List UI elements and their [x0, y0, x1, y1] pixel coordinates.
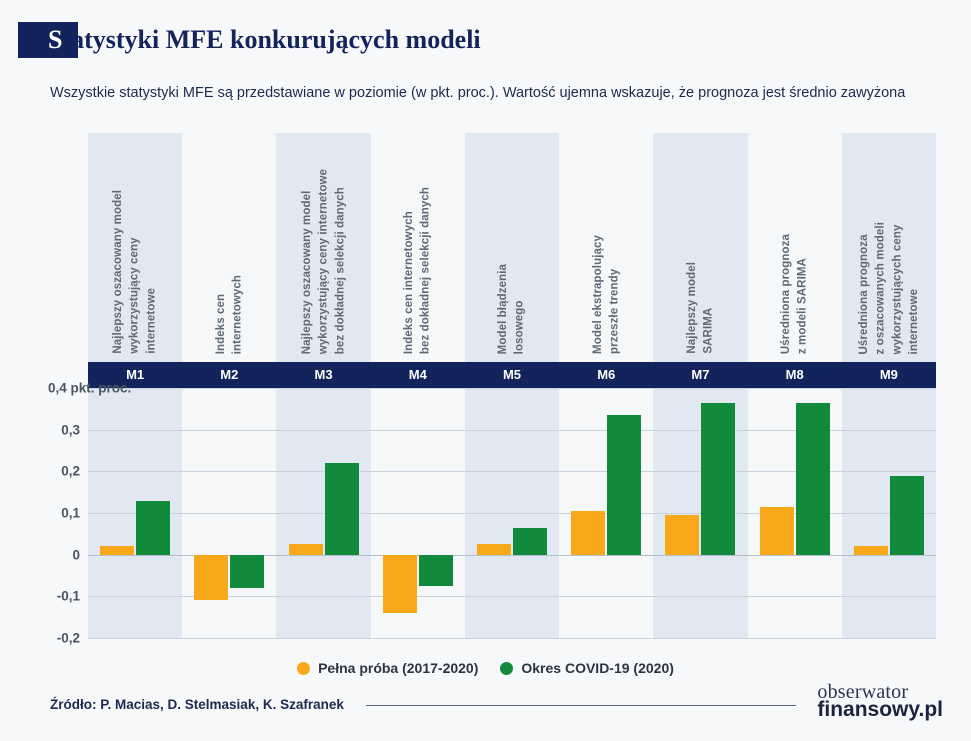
bar-m2-series-1: [194, 555, 228, 601]
bar-m9-series-1: [854, 546, 888, 554]
chart-container: Najlepszy oszacowany model wykorzystując…: [88, 133, 936, 638]
column-description-m7: Najlepszy model SARIMA: [653, 139, 747, 354]
gridline--0-2: [88, 638, 936, 639]
column-description-m2: Indeks cen internetowych: [182, 139, 276, 354]
bar-m8-series-1: [760, 507, 794, 555]
source-rule: [366, 705, 796, 706]
bar-m4-series-1: [383, 555, 417, 613]
bar-m4-series-2: [419, 555, 453, 586]
legend-swatch-icon: [297, 662, 310, 675]
page-title: Statystyki MFE konkurujących modeli: [48, 22, 481, 58]
y-tick-label-0-2: 0,2: [61, 464, 80, 479]
legend-swatch-icon: [500, 662, 513, 675]
model-label-m5: M5: [465, 362, 559, 388]
page-title-rest: tatystyki MFE konkurujących modeli: [62, 25, 480, 54]
column-description-label: Najlepszy oszacowany model wykorzystując…: [299, 169, 349, 354]
model-label-m7: M7: [653, 362, 747, 388]
title-row: Statystyki MFE konkurujących modeli: [0, 22, 971, 60]
y-tick-label--0-2: -0,2: [57, 631, 80, 646]
model-label-m8: M8: [748, 362, 842, 388]
column-headers: Najlepszy oszacowany model wykorzystując…: [88, 133, 936, 362]
column-description-m4: Indeks cen internetowych bez dokładnej s…: [371, 139, 465, 354]
column-description-label: Indeks cen internetowych bez dokładnej s…: [401, 187, 434, 354]
chart-subtitle: Wszystkie statystyki MFE są przedstawian…: [50, 82, 920, 104]
bar-m6-series-1: [571, 511, 605, 555]
legend-label: Pełna próba (2017-2020): [318, 660, 478, 676]
model-label-band: M1M2M3M4M5M6M7M8M9: [88, 362, 936, 388]
bar-m3-series-2: [325, 463, 359, 555]
bar-m7-series-2: [701, 403, 735, 555]
bar-m3-series-1: [289, 544, 323, 554]
model-label-m2: M2: [182, 362, 276, 388]
y-tick-label-0-3: 0,3: [61, 422, 80, 437]
model-label-m3: M3: [276, 362, 370, 388]
column-description-m6: Model ekstrapolujący przeszłe trendy: [559, 139, 653, 354]
legend-label: Okres COVID-19 (2020): [521, 660, 674, 676]
bar-m7-series-1: [665, 515, 699, 555]
bar-m1-series-2: [136, 501, 170, 555]
bar-m6-series-2: [607, 415, 641, 555]
column-description-m9: Uśredniona prognoza z oszacowanych model…: [842, 139, 936, 354]
y-tick-label-0-1: 0,1: [61, 506, 80, 521]
y-axis: 0,4 pkt. proc.0,30,20,10-0,1-0,2: [0, 388, 88, 643]
column-description-label: Model ekstrapolujący przeszłe trendy: [590, 235, 623, 354]
logo-line-2: finansowy.pl: [817, 699, 943, 720]
source-note: Źródło: P. Macias, D. Stelmasiak, K. Sza…: [50, 695, 344, 715]
legend-item-1[interactable]: Pełna próba (2017-2020): [297, 660, 478, 676]
page-title-initial: S: [48, 25, 62, 54]
bar-m1-series-1: [100, 546, 134, 554]
y-tick-label--0-1: -0,1: [57, 589, 80, 604]
column-description-label: Uśredniona prognoza z modeli SARIMA: [778, 234, 811, 354]
column-description-label: Uśredniona prognoza z oszacowanych model…: [856, 222, 923, 354]
bar-m9-series-2: [890, 476, 924, 555]
column-description-m1: Najlepszy oszacowany model wykorzystując…: [88, 139, 182, 354]
obserwator-finansowy-logo: obserwator finansowy.pl: [817, 683, 943, 720]
legend-item-2[interactable]: Okres COVID-19 (2020): [500, 660, 674, 676]
bar-m5-series-2: [513, 528, 547, 555]
bar-m8-series-2: [796, 403, 830, 555]
plot-area: [88, 388, 936, 638]
y-tick-label-0-4: 0,4 pkt. proc.: [48, 381, 131, 396]
model-label-m6: M6: [559, 362, 653, 388]
model-label-m4: M4: [371, 362, 465, 388]
column-description-label: Najlepszy model SARIMA: [684, 262, 717, 354]
column-description-m8: Uśredniona prognoza z modeli SARIMA: [748, 139, 842, 354]
column-description-m3: Najlepszy oszacowany model wykorzystując…: [276, 139, 370, 354]
gridline-0-4: [88, 388, 936, 389]
column-description-label: Najlepszy oszacowany model wykorzystując…: [110, 190, 160, 354]
bar-m2-series-2: [230, 555, 264, 588]
model-label-m9: M9: [842, 362, 936, 388]
column-description-label: Model błądzenia losowego: [495, 264, 528, 354]
column-description-label: Indeks cen internetowych: [213, 275, 246, 354]
chart-legend: Pełna próba (2017-2020)Okres COVID-19 (2…: [0, 655, 971, 681]
y-tick-label-0: 0: [72, 547, 80, 562]
bar-m5-series-1: [477, 544, 511, 554]
footer: Źródło: P. Macias, D. Stelmasiak, K. Sza…: [0, 695, 971, 729]
column-description-m5: Model błądzenia losowego: [465, 139, 559, 354]
